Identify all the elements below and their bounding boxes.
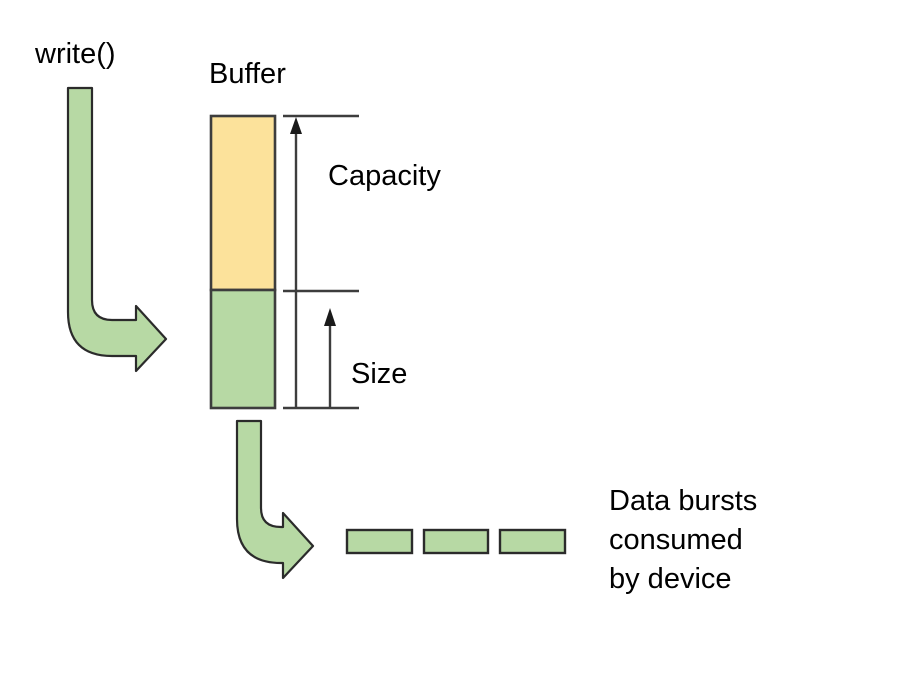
buffer-label: Buffer xyxy=(209,56,286,92)
capacity-label: Capacity xyxy=(328,158,441,194)
buffer-to-device-arrow xyxy=(237,421,313,578)
data-burst-block xyxy=(347,530,412,553)
buffer-free-region xyxy=(211,116,275,290)
capacity-measure-arrow xyxy=(290,117,302,408)
data-burst-block xyxy=(500,530,565,553)
buffer-used-region xyxy=(211,290,275,408)
write-into-buffer-arrow xyxy=(68,88,166,371)
write-call-label: write() xyxy=(35,36,116,72)
diagram-canvas: write() Buffer Capacity Size Data bursts… xyxy=(0,0,922,674)
data-burst-block xyxy=(424,530,488,553)
data-bursts-label: Data bursts consumed by device xyxy=(609,482,757,599)
diagram-graphics xyxy=(0,0,922,674)
size-measure-arrow xyxy=(324,308,336,408)
size-label: Size xyxy=(351,356,407,392)
